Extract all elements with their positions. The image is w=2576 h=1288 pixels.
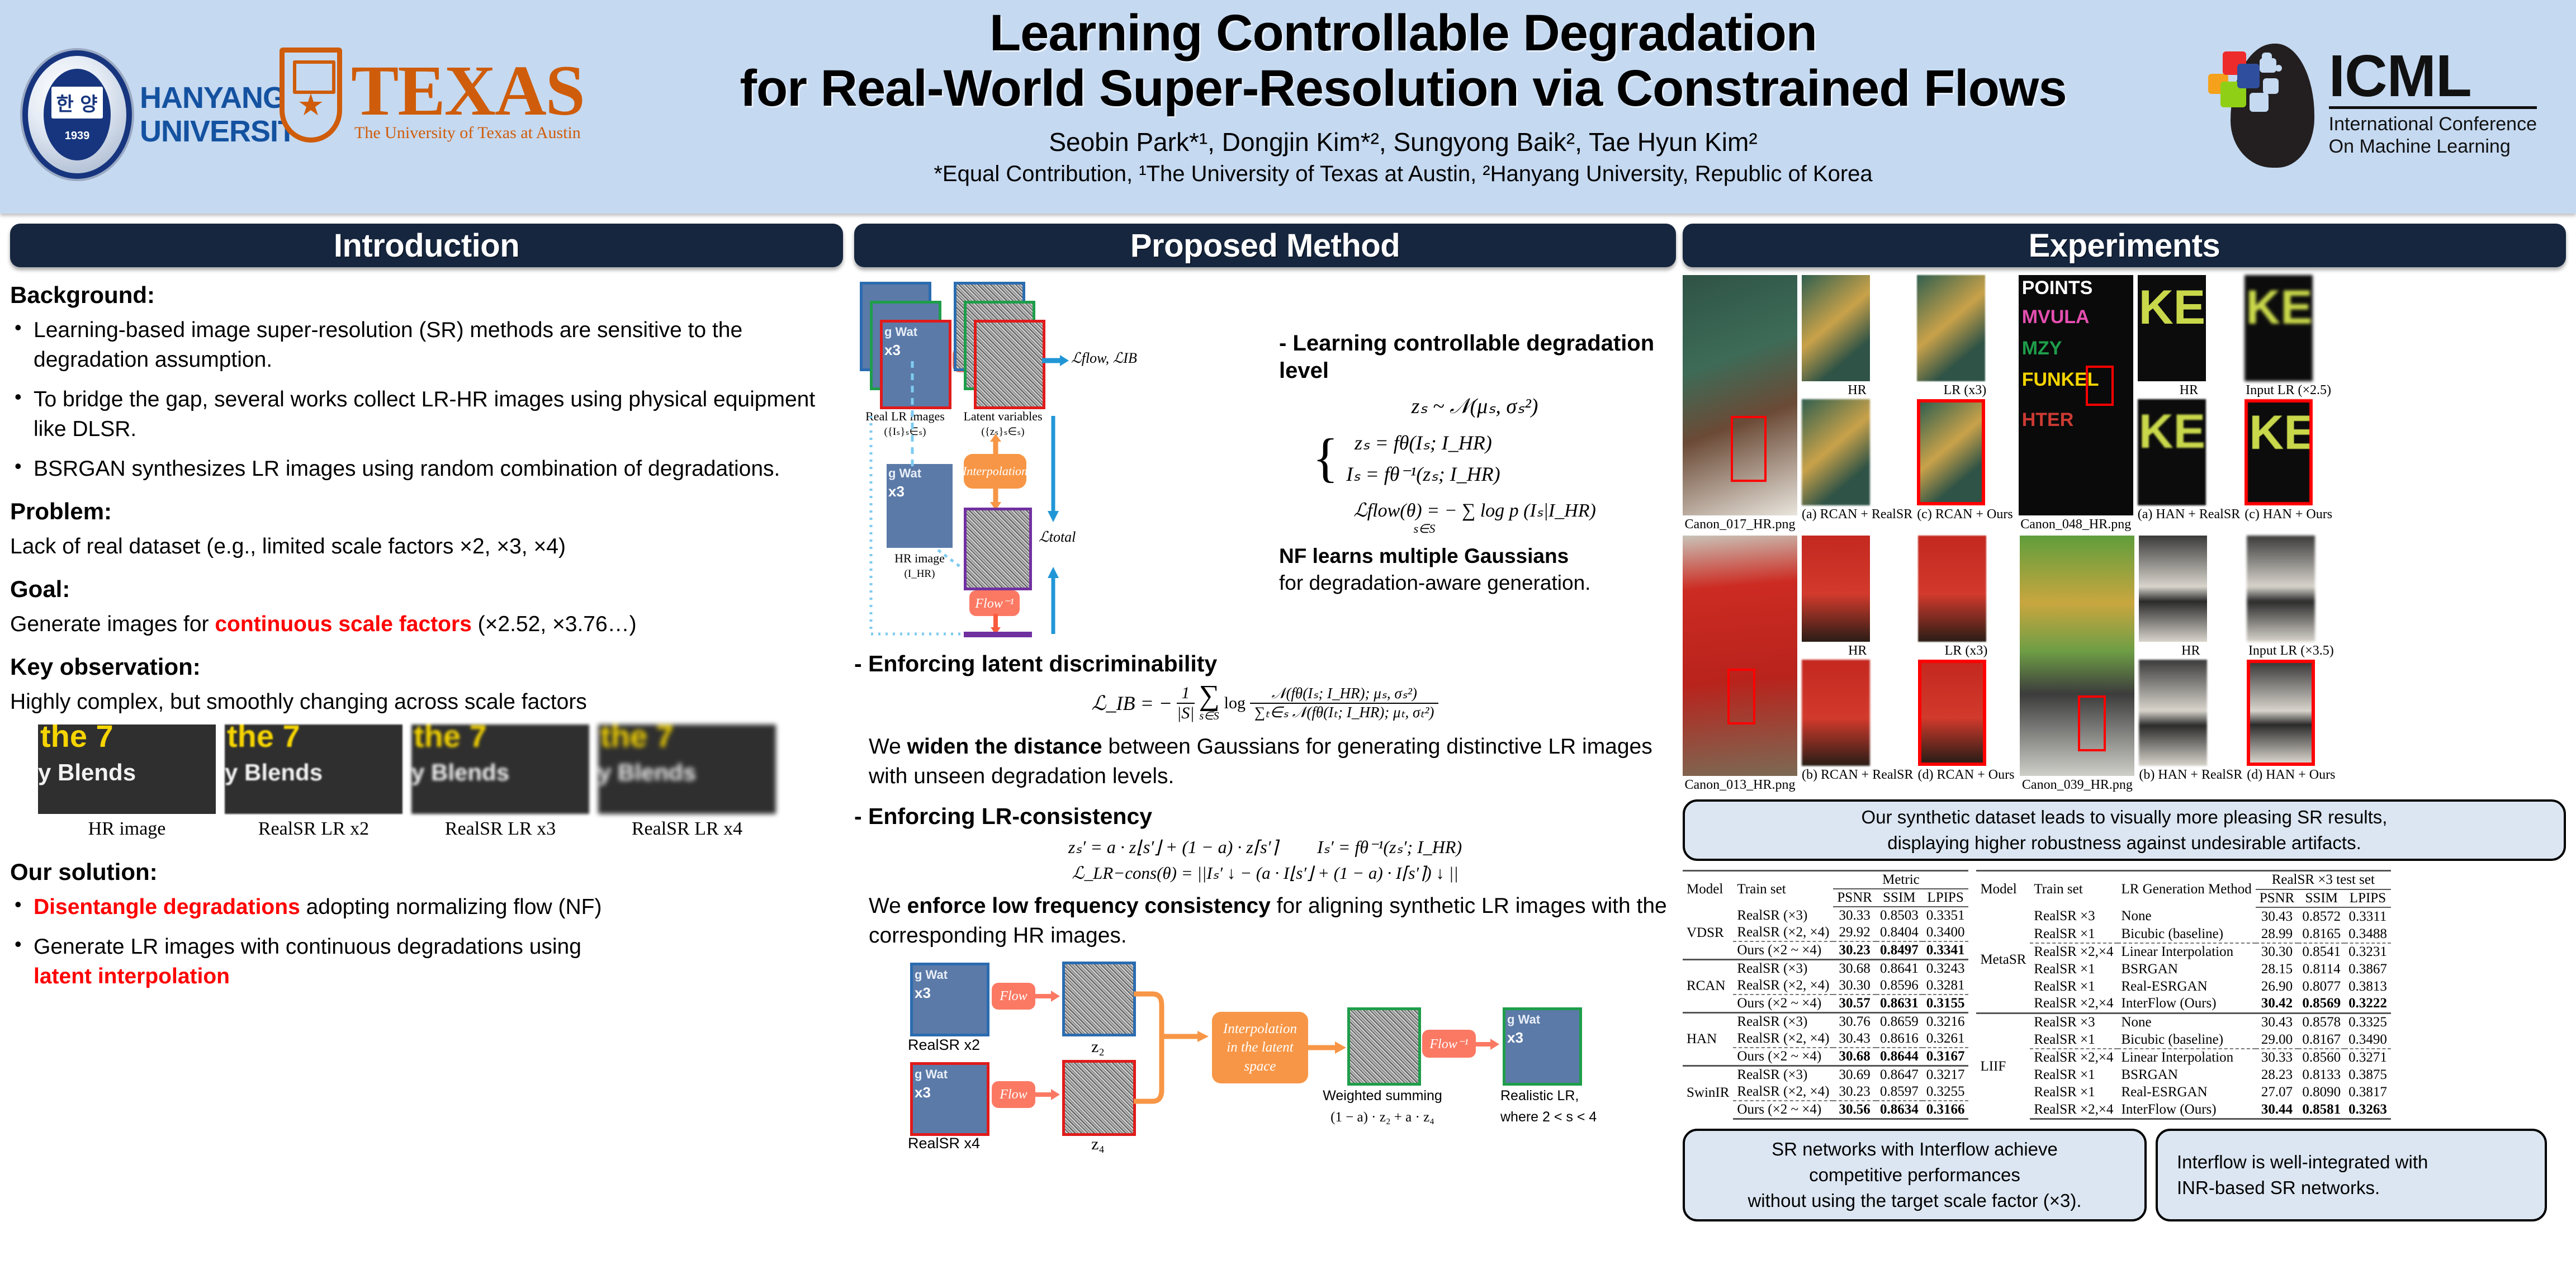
title-block: Learning Controllable Degradation for Re… bbox=[660, 6, 2147, 187]
texas-wordmark: TEXAS bbox=[351, 61, 584, 120]
table-cell: LR Generation Method bbox=[2118, 871, 2256, 908]
table-cell: Ours (×2 ~ ×4) bbox=[1733, 1048, 1833, 1066]
equation-ib-sum-symbol: ∑ bbox=[1199, 684, 1220, 708]
table-cell: 0.8503 bbox=[1876, 907, 1922, 924]
source-image: POINTS MVULA MZY FUNKEL HTER bbox=[2019, 275, 2133, 515]
table-cell: 0.8114 bbox=[2298, 961, 2345, 978]
realsr-x2-caption: RealSR x2 bbox=[908, 1036, 992, 1054]
ours-caption: (d) RCAN + Ours bbox=[1918, 766, 2015, 784]
image-yellow-text: the 7 bbox=[600, 724, 674, 754]
table-row: HANRealSR (×3)30.760.86590.3216 bbox=[1683, 1013, 1968, 1031]
solution-rest-1: adopting normalizing flow (NF) bbox=[300, 895, 602, 919]
flow-block-x4-label: Flow bbox=[1000, 1087, 1027, 1102]
table-cell: None bbox=[2118, 1013, 2256, 1031]
table-cell: 0.3216 bbox=[1922, 1013, 1969, 1031]
controllable-degradation-heading: - Learning controllable degradation leve… bbox=[1279, 330, 1670, 385]
table-cell: Ours (×2 ~ ×4) bbox=[1733, 1101, 1833, 1119]
key-observation-text: Highly complex, but smoothly changing ac… bbox=[10, 687, 843, 717]
table-cell: SSIM bbox=[2298, 889, 2345, 908]
table-cell: 0.8581 bbox=[2298, 1101, 2345, 1119]
equation-ib-frac-bot: |S| bbox=[1177, 703, 1195, 723]
method-b-crop-image bbox=[1802, 660, 1870, 766]
goal-label: Goal: bbox=[10, 576, 843, 603]
solution-text-2: Generate LR images with continuous degra… bbox=[34, 935, 581, 959]
table-cell: 0.8616 bbox=[1876, 1030, 1922, 1048]
result-small-col-a: HR (a) RCAN + RealSR bbox=[1802, 275, 1912, 533]
table-row: VDSRRealSR (×3)30.330.85030.3351 bbox=[1683, 907, 1968, 924]
result-small-col-b: LR (x3) (c) RCAN + Ours bbox=[1917, 275, 2013, 533]
table-cell: 0.3875 bbox=[2345, 1067, 2391, 1084]
bottom-callouts: SR networks with Interflow achieve compe… bbox=[1683, 1129, 2566, 1221]
table-cell: 0.8167 bbox=[2298, 1031, 2345, 1049]
table-cell: 0.3155 bbox=[1922, 995, 1969, 1013]
table-cell: 0.3351 bbox=[1922, 907, 1969, 924]
comparison-image: the 7 y Blends bbox=[598, 724, 776, 814]
table-cell: 30.56 bbox=[1833, 1101, 1876, 1119]
hanyang-seal-icon: 한 양 1939 bbox=[22, 50, 132, 179]
table-cell: RealSR ×1 bbox=[2030, 961, 2117, 978]
icml-subtitle-line2: On Machine Learning bbox=[2329, 135, 2537, 158]
table-cell: RealSR ×3 bbox=[2030, 907, 2117, 925]
table-cell: 30.43 bbox=[2256, 1013, 2299, 1031]
proposed-method-column: Proposed Method g Wat x3 Real LR images … bbox=[854, 224, 1676, 1143]
table-cell: 0.8569 bbox=[2298, 995, 2345, 1013]
table-cell: Train set bbox=[2030, 871, 2117, 908]
texas-subtitle: The University of Texas at Austin bbox=[351, 124, 584, 143]
solution-highlight-1: Disentangle degradations bbox=[34, 895, 300, 919]
table-cell: 0.8090 bbox=[2298, 1083, 2345, 1101]
result-big-caption: Canon_048_HR.png bbox=[2019, 515, 2133, 533]
strip-caption: RealSR LR x2 bbox=[225, 818, 402, 840]
table-cell: 0.3867 bbox=[2345, 961, 2391, 978]
poster-header: 한 양 1939 HANYANG UNIVERSITY ★ TEXAS The … bbox=[0, 0, 2576, 214]
callout-inr-integration: Interflow is well-integrated with INR-ba… bbox=[2156, 1129, 2547, 1221]
crop-region-marker bbox=[2086, 366, 2114, 406]
table-cell: LPIPS bbox=[2345, 889, 2391, 908]
table-row: RealSR ×1Real-ESRGAN26.900.80770.3813 bbox=[1976, 978, 2390, 995]
equation-inverse-flow: Iₛ′ = fθ⁻¹(zₛ′; I_HR) bbox=[1317, 836, 1462, 858]
section-header-proposed-method: Proposed Method bbox=[854, 224, 1676, 267]
ib-explanation-pre: We bbox=[869, 735, 907, 759]
table-cell: 0.3261 bbox=[1922, 1030, 1969, 1048]
result-big-caption: Canon_017_HR.png bbox=[1683, 515, 1797, 533]
table-cell: 0.3263 bbox=[2345, 1101, 2391, 1119]
result-group-1: Canon_017_HR.png HR (a) RCAN + RealSR LR… bbox=[1683, 275, 2013, 533]
nf-statement-rest: for degradation-aware generation. bbox=[1279, 571, 1590, 594]
lr-crop-image bbox=[1918, 536, 1986, 642]
table-cell: VDSR bbox=[1683, 907, 1733, 960]
table-cell: PSNR bbox=[1833, 889, 1876, 907]
table-cell: Metric bbox=[1833, 871, 1968, 889]
table-cell: RealSR (×2, ×4) bbox=[1733, 1030, 1833, 1048]
table-cell: 30.30 bbox=[2256, 943, 2299, 961]
comparison-image: the 7 y Blends bbox=[411, 724, 589, 814]
lr-crop-caption: Input LR (×3.5) bbox=[2247, 642, 2335, 660]
table-cell: RealSR ×1 bbox=[2030, 925, 2117, 943]
method-a-crop-image bbox=[1802, 399, 1870, 505]
table-cell: 0.8644 bbox=[1876, 1048, 1922, 1066]
equation-zs-def: zₛ = fθ(Iₛ; I_HR) bbox=[1346, 431, 1500, 454]
result-small-col-b: KE Input LR (×2.5) KE (c) HAN + Ours bbox=[2244, 275, 2332, 533]
table-cell: 30.44 bbox=[2256, 1101, 2299, 1119]
table-row: RealSR ×2,×4Linear Interpolation30.300.8… bbox=[1976, 943, 2390, 961]
weighted-sum-caption: Weighted summing (1 − a) · z₂ + a · z₄ bbox=[1318, 1086, 1447, 1128]
section-header-introduction: Introduction bbox=[10, 224, 843, 267]
table-cell: 29.92 bbox=[1833, 924, 1876, 941]
results-table-left: ModelTrain setMetricPSNRSSIMLPIPSVDSRRea… bbox=[1683, 870, 1968, 1120]
icml-logo: ICML International Conference On Machine… bbox=[2208, 39, 2537, 168]
table-cell: RealSR ×3 test set bbox=[2256, 871, 2391, 889]
latent-z2-label: z₂ bbox=[1076, 1038, 1120, 1057]
table-cell: HAN bbox=[1683, 1013, 1733, 1066]
ours-caption: (c) RCAN + Ours bbox=[1917, 505, 2013, 523]
goal-prefix: Generate images for bbox=[10, 612, 215, 636]
callout-synthetic-line2: displaying higher robustness against und… bbox=[1887, 830, 2361, 856]
table-cell: BSRGAN bbox=[2118, 961, 2256, 978]
table-cell: 30.30 bbox=[1833, 977, 1876, 995]
table-cell: RealSR ×2,×4 bbox=[2030, 943, 2117, 961]
table-cell: 0.8560 bbox=[2298, 1049, 2345, 1067]
table-cell: 28.23 bbox=[2256, 1067, 2299, 1084]
result-group-2: POINTS MVULA MZY FUNKEL HTER Canon_048_H… bbox=[2019, 275, 2332, 533]
table-cell: PSNR bbox=[2256, 889, 2299, 908]
icml-text-block: ICML International Conference On Machine… bbox=[2329, 49, 2537, 158]
interp-label-line1: Interpolation bbox=[1223, 1020, 1297, 1039]
table-cell: 0.3281 bbox=[1922, 977, 1969, 995]
table-cell: 0.3231 bbox=[2345, 943, 2391, 961]
arrow-to-realistic-lr bbox=[1476, 1038, 1500, 1051]
table-row: SwinIRRealSR (×3)30.690.86470.3217 bbox=[1683, 1066, 1968, 1084]
ib-explanation-bold: widen the distance bbox=[907, 735, 1102, 759]
equation-latent-interp: zₛ′ = a · z⌊s′⌋ + (1 − a) · z⌈s′⌉ bbox=[1068, 836, 1278, 858]
equation-ib-sum: ∑ s∈S bbox=[1199, 684, 1220, 722]
table-cell: 0.3817 bbox=[2345, 1083, 2391, 1101]
strip-caption: HR image bbox=[38, 818, 216, 840]
table-cell: RealSR (×3) bbox=[1733, 1013, 1833, 1031]
equation-zs: zₛ ~ 𝒩(μₛ, σₛ²) bbox=[1279, 394, 1670, 419]
table-row: RealSR ×1Bicubic (baseline)29.000.81670.… bbox=[1976, 1031, 2390, 1049]
ours-caption: (d) HAN + Ours bbox=[2247, 766, 2335, 784]
table-cell: RealSR ×2,×4 bbox=[2030, 1101, 2117, 1119]
equation-ib-fraction: 1 |S| bbox=[1177, 684, 1195, 723]
crop-region-marker bbox=[2078, 695, 2106, 751]
table-cell: 30.69 bbox=[1833, 1066, 1876, 1084]
qualitative-results-row-1: Canon_017_HR.png HR (a) RCAN + RealSR LR… bbox=[1683, 275, 2566, 533]
table-cell: 0.8597 bbox=[1876, 1083, 1922, 1101]
table-cell: 29.00 bbox=[2256, 1031, 2299, 1049]
solution-highlight-2: latent interpolation bbox=[34, 964, 230, 988]
image-yellow-text: the 7 bbox=[414, 724, 487, 754]
table-cell: 0.8133 bbox=[2298, 1067, 2345, 1084]
table-cell: LPIPS bbox=[1922, 889, 1969, 907]
ours-crop-image bbox=[1917, 399, 1985, 505]
result-small-col-b: LR (x3) (d) RCAN + Ours bbox=[1918, 536, 2015, 794]
table-cell: Model bbox=[1976, 871, 2030, 908]
table-cell: 0.3311 bbox=[2345, 907, 2391, 925]
table-cell: InterFlow (Ours) bbox=[2118, 1101, 2256, 1119]
table-cell: 30.76 bbox=[1833, 1013, 1876, 1031]
hr-crop-image bbox=[1802, 275, 1870, 381]
interpolation-latent-space-block: Interpolation in the latent space bbox=[1212, 1012, 1308, 1083]
results-table-right-body: ModelTrain setLR Generation MethodRealSR… bbox=[1976, 871, 2390, 1119]
table-cell: RealSR ×2,×4 bbox=[2030, 1049, 2117, 1067]
result-big-cell: Canon_017_HR.png bbox=[1683, 275, 1797, 533]
author-list: Seobin Park*¹, Dongjin Kim*², Sungyong B… bbox=[660, 127, 2147, 157]
lr-crop-caption: Input LR (×2.5) bbox=[2244, 381, 2332, 399]
table-cell: 0.3488 bbox=[2345, 925, 2391, 943]
list-item: To bridge the gap, several works collect… bbox=[10, 385, 843, 444]
list-item: Learning-based image super-resolution (S… bbox=[10, 315, 843, 375]
lr-crop-image bbox=[1917, 275, 1985, 381]
image-white-text: y Blends bbox=[598, 759, 696, 786]
flow-block-x4: Flow bbox=[992, 1081, 1035, 1108]
problem-text: Lack of real dataset (e.g., limited scal… bbox=[10, 532, 843, 561]
table-cell: MetaSR bbox=[1976, 907, 2030, 1013]
hr-crop-image bbox=[1802, 536, 1870, 642]
poster-title-line2: for Real-World Super-Resolution via Cons… bbox=[660, 61, 2147, 116]
table-cell: SSIM bbox=[1876, 889, 1922, 907]
result-big-caption: Canon_039_HR.png bbox=[2020, 776, 2134, 794]
flow-block-x2-label: Flow bbox=[1000, 989, 1027, 1004]
table-cell: RealSR ×1 bbox=[2030, 1067, 2117, 1084]
interp-label-line2: in the latent bbox=[1227, 1038, 1293, 1057]
table-cell: 28.99 bbox=[2256, 925, 2299, 943]
table-cell: BSRGAN bbox=[2118, 1067, 2256, 1084]
table-cell: 0.8659 bbox=[1876, 1013, 1922, 1031]
table-cell: 0.3243 bbox=[1922, 960, 1969, 978]
realsr-x4-text-top: g Wat bbox=[915, 1067, 948, 1082]
result-big-cell: Canon_013_HR.png bbox=[1683, 536, 1797, 794]
table-cell: 0.3271 bbox=[2345, 1049, 2391, 1067]
hanyang-university-logo: 한 양 1939 HANYANG UNIVERSITY bbox=[22, 50, 315, 179]
ib-explanation: We widen the distance between Gaussians … bbox=[854, 732, 1676, 791]
nf-statement-bold: NF learns multiple Gaussians bbox=[1279, 544, 1569, 567]
our-solution-bullet-list: Disentangle degradations adopting normal… bbox=[10, 892, 843, 991]
table-cell: 0.8578 bbox=[2298, 1013, 2345, 1031]
table-cell: 0.3341 bbox=[1922, 941, 1969, 960]
result-small-col-b: Input LR (×3.5) (d) HAN + Ours bbox=[2247, 536, 2335, 794]
table-cell: 0.3490 bbox=[2345, 1031, 2391, 1049]
ut-austin-logo: ★ TEXAS The University of Texas at Austi… bbox=[280, 48, 584, 143]
table-cell: RCAN bbox=[1683, 960, 1733, 1013]
page-title: Learning Controllable Degradation for Re… bbox=[660, 6, 2147, 117]
background-label: Background: bbox=[10, 282, 843, 309]
table-row: RealSR ×2,×4InterFlow (Ours)30.440.85810… bbox=[1976, 1101, 2390, 1119]
result-big-caption: Canon_013_HR.png bbox=[1683, 776, 1797, 794]
crop-region-marker bbox=[1727, 669, 1755, 724]
goal-text: Generate images for continuous scale fac… bbox=[10, 609, 843, 639]
list-item: BSRGAN synthesizes LR images using rando… bbox=[10, 454, 843, 484]
equation-ib-log: log bbox=[1224, 694, 1246, 713]
table-cell: 0.3166 bbox=[1922, 1101, 1969, 1119]
table-cell: 30.33 bbox=[1833, 907, 1876, 924]
weighted-sum-latent bbox=[1347, 1007, 1421, 1086]
latent-z4-label: z₄ bbox=[1076, 1135, 1120, 1154]
arrow-x4-to-z4 bbox=[1035, 1088, 1061, 1101]
realistic-lr-line2: where 2 < s < 4 bbox=[1500, 1109, 1597, 1125]
ours-caption: (c) HAN + Ours bbox=[2244, 505, 2332, 523]
method-b-caption: (b) RCAN + RealSR bbox=[1802, 766, 1914, 784]
table-cell: Bicubic (baseline) bbox=[2118, 1031, 2256, 1049]
table-cell: Model bbox=[1683, 871, 1733, 907]
equation-lr-cons: ℒ_LR−cons(θ) = ||Iₛ′ ↓ − (a · I⌊s′⌋ + (1… bbox=[854, 863, 1676, 883]
table-cell: Real-ESRGAN bbox=[2118, 978, 2256, 995]
table-cell: 30.68 bbox=[1833, 1048, 1876, 1066]
table-cell: 0.8404 bbox=[1876, 924, 1922, 941]
table-cell: RealSR (×3) bbox=[1733, 1066, 1833, 1084]
introduction-column: Introduction Background: Learning-based … bbox=[10, 224, 843, 1001]
icml-subtitle-line1: International Conference bbox=[2329, 113, 2537, 135]
realistic-lr-line1: Realistic LR, bbox=[1500, 1088, 1579, 1104]
table-cell: 0.8077 bbox=[2298, 978, 2345, 995]
hr-crop-image bbox=[2139, 536, 2207, 642]
problem-label: Problem: bbox=[10, 498, 843, 525]
section-title-proposed-method: Proposed Method bbox=[1130, 227, 1400, 264]
table-cell: RealSR (×2, ×4) bbox=[1733, 1083, 1833, 1101]
brace-icon: { bbox=[1313, 434, 1338, 482]
hr-crop-caption: HR bbox=[2139, 642, 2242, 660]
table-cell: RealSR (×2, ×4) bbox=[1733, 924, 1833, 941]
lrcons-explanation-bold: enforce low frequency consistency bbox=[907, 894, 1271, 918]
conditioning-dashed-arrows bbox=[854, 276, 1268, 645]
table-row: RealSR ×2,×4InterFlow (Ours)30.420.85690… bbox=[1976, 995, 2390, 1013]
strip-caption: RealSR LR x3 bbox=[411, 818, 589, 840]
table-cell: 30.43 bbox=[2256, 907, 2299, 925]
callout-competitive-line3: without using the target scale factor (×… bbox=[1748, 1188, 2081, 1214]
qualitative-results-row-2: Canon_013_HR.png HR (b) RCAN + RealSR LR… bbox=[1683, 536, 2566, 794]
equation-ib-lhs: ℒ_IB = − bbox=[1092, 692, 1173, 715]
result-big-cell: Canon_039_HR.png bbox=[2020, 536, 2134, 794]
realsr-x4-text-bottom: x3 bbox=[915, 1084, 931, 1101]
table-cell: Linear Interpolation bbox=[2118, 943, 2256, 961]
lr-consistency-explanation: We enforce low frequency consistency for… bbox=[854, 891, 1676, 950]
result-group-3: Canon_013_HR.png HR (b) RCAN + RealSR LR… bbox=[1683, 536, 2014, 794]
callout-competitive-line2: competitive performances bbox=[1809, 1162, 2020, 1188]
realistic-lr-caption: Realistic LR, where 2 < s < 4 bbox=[1500, 1086, 1623, 1128]
table-cell: Ours (×2 ~ ×4) bbox=[1733, 995, 1833, 1013]
table-cell: Ours (×2 ~ ×4) bbox=[1733, 941, 1833, 960]
nf-statement: NF learns multiple Gaussians for degrada… bbox=[1279, 543, 1670, 596]
table-cell: 30.23 bbox=[1833, 941, 1876, 960]
hanyang-seal-year: 1939 bbox=[65, 130, 90, 143]
table-cell: 30.43 bbox=[1833, 1030, 1876, 1048]
table-cell: InterFlow (Ours) bbox=[2118, 995, 2256, 1013]
ours-crop-image: KE bbox=[2244, 399, 2313, 505]
affiliation-list: *Equal Contribution, ¹The University of … bbox=[660, 162, 2147, 187]
results-table-right: ModelTrain setLR Generation MethodRealSR… bbox=[1976, 870, 2390, 1120]
method-a-crop-image: KE bbox=[2138, 399, 2206, 505]
icml-head-icon bbox=[2208, 39, 2314, 168]
result-group-4: Canon_039_HR.png HR (b) HAN + RealSR Inp… bbox=[2020, 536, 2335, 794]
table-cell: 0.8497 bbox=[1876, 941, 1922, 960]
lrcons-explanation-pre: We bbox=[869, 894, 907, 918]
result-big-cell: POINTS MVULA MZY FUNKEL HTER Canon_048_H… bbox=[2019, 275, 2133, 533]
table-cell: 30.23 bbox=[1833, 1083, 1876, 1101]
strip-cell: the 7 y Blends RealSR LR x4 bbox=[598, 724, 776, 840]
table-cell: RealSR ×1 bbox=[2030, 1031, 2117, 1049]
realsr-x4-image: g Wat x3 bbox=[910, 1062, 989, 1136]
image-white-text: y Blends bbox=[411, 759, 509, 786]
interp-label-line3: space bbox=[1244, 1057, 1276, 1076]
results-tables: ModelTrain setMetricPSNRSSIMLPIPSVDSRRea… bbox=[1683, 870, 2566, 1120]
table-cell: 27.07 bbox=[2256, 1083, 2299, 1101]
strip-caption: RealSR LR x4 bbox=[598, 818, 776, 840]
goal-highlight: continuous scale factors bbox=[215, 612, 471, 636]
table-cell: 28.15 bbox=[2256, 961, 2299, 978]
equation-is-def: Iₛ = fθ⁻¹(zₛ; I_HR) bbox=[1346, 462, 1500, 486]
table-cell: 0.3217 bbox=[1922, 1066, 1969, 1084]
table-cell: 0.3167 bbox=[1922, 1048, 1969, 1066]
table-row: LIIFRealSR ×3None30.430.85780.3325 bbox=[1976, 1013, 2390, 1031]
equation-system: { zₛ = fθ(Iₛ; I_HR) Iₛ = fθ⁻¹(zₛ; I_HR) bbox=[1279, 431, 1670, 486]
lr-consistency-equations-row: zₛ′ = a · z⌊s′⌋ + (1 − a) · z⌈s′⌉ Iₛ′ = … bbox=[854, 836, 1676, 858]
method-b-caption: (b) HAN + RealSR bbox=[2139, 766, 2242, 784]
table-cell: 0.8641 bbox=[1876, 960, 1922, 978]
method-a-caption: (a) RCAN + RealSR bbox=[1802, 505, 1912, 523]
realsr-x2-image: g Wat x3 bbox=[910, 963, 989, 1036]
table-row: MetaSRRealSR ×3None30.430.85720.3311 bbox=[1976, 907, 2390, 925]
table-cell: Linear Interpolation bbox=[2118, 1049, 2256, 1067]
comparison-image: the 7 y Blends bbox=[38, 724, 216, 814]
equation-ib-numerator: 𝒩(fθ(Iₛ; I_HR); μₛ, σₛ²) bbox=[1250, 685, 1438, 703]
table-cell: 0.8631 bbox=[1876, 995, 1922, 1013]
strip-cell: the 7 y Blends RealSR LR x2 bbox=[225, 724, 402, 840]
table-row: RealSR ×1BSRGAN28.150.81140.3867 bbox=[1976, 961, 2390, 978]
table-header-row: ModelTrain setLR Generation MethodRealSR… bbox=[1976, 871, 2390, 889]
equation-ib: ℒ_IB = − 1 |S| ∑ s∈S log 𝒩(fθ(Iₛ; I_HR);… bbox=[854, 684, 1676, 723]
realsr-x2-text-top: g Wat bbox=[915, 968, 948, 982]
crop-region-marker bbox=[1731, 416, 1767, 482]
method-b-crop-image bbox=[2139, 660, 2207, 766]
table-cell: 30.42 bbox=[2256, 995, 2299, 1013]
framework-diagram: g Wat x3 Real LR images ({Iₛ}ₛ∈ₛ) Flow L… bbox=[854, 276, 1268, 645]
callout-competitive-line1: SR networks with Interflow achieve bbox=[1772, 1137, 2058, 1162]
table-row: RCANRealSR (×3)30.680.86410.3243 bbox=[1683, 960, 1968, 978]
table-cell: RealSR ×1 bbox=[2030, 978, 2117, 995]
table-cell: 0.8634 bbox=[1876, 1101, 1922, 1119]
table-row: RealSR ×1Bicubic (baseline)28.990.81650.… bbox=[1976, 925, 2390, 943]
table-cell: Real-ESRGAN bbox=[2118, 1083, 2256, 1101]
realistic-lr-image: g Wat x3 bbox=[1503, 1007, 1582, 1086]
method-right-text: - Learning controllable degradation leve… bbox=[1279, 330, 1670, 596]
table-cell: RealSR ×1 bbox=[2030, 1083, 2117, 1101]
arrow-interp-to-sum bbox=[1308, 1040, 1347, 1055]
table-cell: RealSR (×3) bbox=[1733, 907, 1833, 924]
latent-z2 bbox=[1062, 962, 1136, 1036]
realistic-lr-text-bottom: x3 bbox=[1507, 1029, 1523, 1046]
ours-crop-image bbox=[1918, 660, 1986, 766]
section-header-experiments: Experiments bbox=[1683, 224, 2566, 267]
table-row: RealSR ×2,×4Linear Interpolation30.330.8… bbox=[1976, 1049, 2390, 1067]
interpolation-diagram: g Wat x3 RealSR x2 Flow z₂ g Wat x3 Real… bbox=[854, 958, 1659, 1143]
experiments-column: Experiments Canon_017_HR.png HR (a) RCAN… bbox=[1683, 224, 2566, 1221]
loss-total-label: ℒtotal bbox=[1039, 529, 1076, 546]
table-cell: 26.90 bbox=[2256, 978, 2299, 995]
hr-crop-caption: HR bbox=[1802, 642, 1914, 660]
image-white-text: y Blends bbox=[225, 759, 323, 786]
table-cell: 0.8165 bbox=[2298, 925, 2345, 943]
table-cell: 30.57 bbox=[1833, 995, 1876, 1013]
table-cell: 0.8572 bbox=[2298, 907, 2345, 925]
ut-shield-icon: ★ bbox=[280, 48, 342, 143]
equation-ib-frac-top: 1 bbox=[1177, 684, 1195, 703]
lr-crop-caption: LR (x3) bbox=[1918, 642, 2015, 660]
table-cell: 0.8596 bbox=[1876, 977, 1922, 995]
hr-crop-caption: HR bbox=[2138, 381, 2241, 399]
table-cell: RealSR ×2,×4 bbox=[2030, 995, 2117, 1013]
lr-crop-caption: LR (x3) bbox=[1917, 381, 2013, 399]
image-yellow-text: the 7 bbox=[40, 724, 113, 754]
